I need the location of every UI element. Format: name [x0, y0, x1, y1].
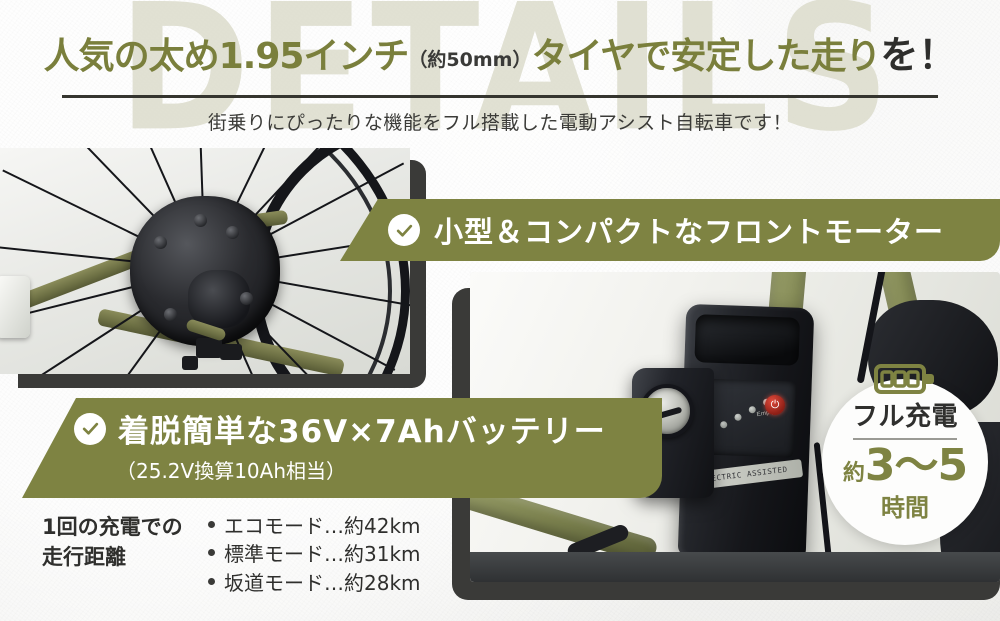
bullet-dot	[208, 578, 215, 585]
list-item-label: 標準モード…約31km	[224, 540, 421, 568]
photo-bottom-shade	[470, 552, 1000, 582]
headline-part-3: を！	[880, 33, 956, 77]
details-watermark: DETAILS	[118, 0, 896, 170]
page-subhead: 街乗りにぴったりな機能をフル搭載した電動アシスト自転車です！	[0, 108, 1000, 135]
battery-charge-icon	[874, 361, 936, 397]
list-item: 坂道モード…約28km	[208, 569, 421, 597]
headline-paren: （約50mm）	[408, 49, 531, 71]
badge-hours-value: 3〜5	[865, 444, 967, 488]
banner-battery-sublabel: （25.2V換算10Ah相当）	[116, 455, 346, 484]
detail-banner-page: DETAILS 人気の太め1.95インチ（約50mm）タイヤで安定した走りを！ …	[0, 0, 1000, 621]
list-item: エコモード…約42km	[208, 512, 421, 540]
page-headline: 人気の太め1.95インチ（約50mm）タイヤで安定した走りを！	[0, 36, 1000, 75]
bullet-dot	[208, 521, 215, 528]
list-item: 標準モード…約31km	[208, 540, 421, 568]
banner-battery[interactable]: 着脱簡単な36V×7Ahバッテリー （25.2V換算10Ah相当）	[22, 398, 662, 498]
badge-hours: 約 3〜5	[843, 444, 967, 488]
header-divider	[62, 95, 938, 98]
bullet-dot	[208, 549, 215, 556]
range-spec-label-line1: 1回の充電での	[42, 512, 212, 542]
badge-unit: 時間	[881, 488, 929, 523]
range-spec-label-line2: 走行距離	[42, 542, 212, 572]
badge-approx: 約	[843, 463, 865, 485]
headline-part-2: タイヤで安定した走り	[531, 36, 880, 77]
range-spec-list: エコモード…約42km 標準モード…約31km 坂道モード…約28km	[208, 512, 421, 597]
banner-front-motor[interactable]: 小型＆コンパクトなフロントモーター	[340, 199, 1000, 261]
headline-part-1: 人気の太め1.95インチ	[44, 36, 409, 77]
range-spec-label: 1回の充電での 走行距離	[42, 512, 212, 573]
badge-title: フル充電	[852, 396, 958, 433]
power-button-icon: ⏻	[765, 395, 786, 416]
reflector	[0, 276, 30, 338]
front-hub-motor-photo	[0, 148, 410, 374]
check-circle-icon	[74, 413, 106, 445]
banner-battery-label: 着脱簡単な36V×7Ahバッテリー	[118, 406, 606, 451]
banner-front-motor-label: 小型＆コンパクトなフロントモーター	[434, 209, 944, 251]
check-circle-icon	[388, 214, 420, 246]
full-charge-badge: フル充電 約 3〜5 時間	[822, 379, 988, 545]
list-item-label: エコモード…約42km	[224, 512, 421, 540]
list-item-label: 坂道モード…約28km	[224, 569, 421, 597]
